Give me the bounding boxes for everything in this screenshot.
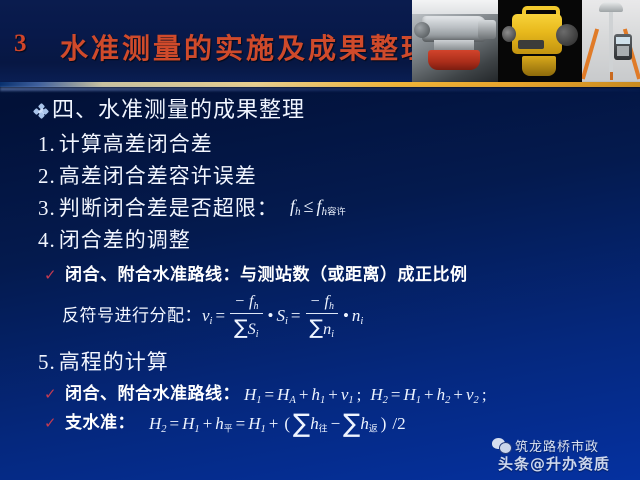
- list-item-3-index: 3.: [38, 196, 56, 220]
- fe-h1: H: [244, 385, 256, 404]
- fe-hh1: h: [311, 385, 320, 404]
- fc-den2-var: n: [323, 321, 331, 338]
- diamond-bullet-icon: [34, 104, 48, 118]
- fc-den1-var: S: [248, 321, 256, 338]
- formula-limit-rhs-sub-cjk: 容许: [327, 207, 346, 218]
- check-item-elevation-route-label: 闭合、附合水准路线：: [65, 384, 240, 404]
- fe-ha: H: [277, 385, 289, 404]
- fb-h2: H: [149, 414, 161, 433]
- fc-dot: •: [265, 306, 277, 325]
- fe-eq2: =: [388, 385, 404, 404]
- presentation-slide: 3 水准测量的实施及成果整理 四、水准测量的成果整理: [0, 0, 640, 480]
- fe-plus2: +: [325, 385, 341, 404]
- list-item-5-index: 5.: [38, 350, 56, 374]
- distribute-label: 反符号进行分配：: [62, 306, 202, 326]
- fb-hf-sub: 返: [369, 425, 378, 435]
- list-item-4-label: 闭合差的调整: [59, 228, 191, 252]
- fb-sum1: ∑: [293, 409, 310, 439]
- section-heading: 四、水准测量的成果整理: [34, 92, 305, 124]
- fb-h1: H: [182, 414, 194, 433]
- list-item-5-label: 高程的计算: [59, 350, 169, 374]
- fc-eq: =: [212, 306, 228, 325]
- check-mark-icon-2: ✓: [44, 385, 58, 403]
- fb-minus: −: [328, 414, 344, 433]
- fb-h1b-sub: 1: [261, 424, 266, 435]
- fe-semi2: ;: [479, 385, 490, 404]
- fc-num2-sub: h: [329, 301, 334, 312]
- fb-hp-sub: 平: [224, 425, 233, 435]
- fb-hw: h: [310, 414, 319, 433]
- check-item-closed-route-label: 闭合、附合水准路线：与测站数（或距离）成正比例: [65, 265, 468, 285]
- fe-plus3: +: [421, 385, 437, 404]
- formula-correction: vi=− fh∑Si•Si=− fh∑ni•ni: [202, 294, 363, 341]
- list-item-2-label: 高差闭合差容许误差: [59, 164, 257, 188]
- fb-eq: =: [167, 414, 183, 433]
- formula-branch-leveling: H2=H1+h平=H1+(∑h往−∑h返)/2: [149, 409, 409, 439]
- list-item-1: 1.计算高差闭合差: [38, 128, 213, 158]
- fb-hf: h: [360, 414, 369, 433]
- fc-num1-sub: h: [254, 301, 259, 312]
- check-item-branch-route: ✓支水准：H2=H1+h平=H1+(∑h往−∑h返)/2: [44, 408, 409, 439]
- fc-dot2: •: [340, 306, 352, 325]
- watermark-toutiao: 头条@升办资质: [498, 453, 610, 474]
- check-mark-icon-3: ✓: [44, 414, 58, 432]
- fe-h2: H: [364, 385, 382, 404]
- fc-mult1: S: [276, 306, 285, 325]
- check-item-closed-route: ✓闭合、附合水准路线：与测站数（或距离）成正比例: [44, 260, 468, 285]
- fb-hw-sub: 往: [319, 425, 328, 435]
- fb-plus: +: [200, 414, 216, 433]
- fc-v: v: [202, 306, 210, 325]
- fc-eq2: =: [288, 306, 304, 325]
- wechat-icon: [492, 438, 510, 453]
- check-mark-icon: ✓: [44, 266, 58, 284]
- fb-rparen: ): [378, 414, 390, 433]
- photo-yellow-digital-level: [498, 0, 582, 82]
- list-item-4-index: 4.: [38, 228, 56, 252]
- fb-hp: h: [215, 414, 224, 433]
- formula-closure-limit: fh≤fh容许: [290, 196, 346, 218]
- slide-content: 四、水准测量的成果整理 1.计算高差闭合差 2.高差闭合差容许误差 3.判断闭合…: [0, 88, 640, 480]
- check-item-elevation-route: ✓闭合、附合水准路线：H1=HA+h1+v1;H2=H1+h2+v2;: [44, 379, 490, 406]
- fb-eq2: =: [233, 414, 249, 433]
- slide-header-band: 3 水准测量的实施及成果整理: [0, 0, 640, 84]
- fb-h2-sub: 2: [161, 424, 166, 435]
- fc-den2-sub: i: [331, 329, 334, 340]
- fc-num2: − f: [310, 293, 329, 310]
- slide-number: 3: [14, 30, 27, 58]
- fe-hh2: h: [437, 385, 446, 404]
- fe-semi: ;: [354, 385, 365, 404]
- formula-limit-relation: ≤: [301, 196, 317, 216]
- fc-fraction-1: − fh∑Si: [230, 293, 262, 340]
- fc-mult2-sub: i: [360, 316, 363, 327]
- list-item-1-index: 1.: [38, 132, 56, 156]
- photo-gps-rover-on-tripod: [582, 0, 640, 82]
- fb-div: /2: [389, 414, 408, 433]
- list-item-5: 5.高程的计算: [38, 346, 169, 376]
- fe-h1b: H: [404, 385, 416, 404]
- page-title: 水准测量的实施及成果整理: [60, 27, 432, 67]
- fc-den1-sum: ∑: [234, 315, 248, 339]
- header-photo-strip: [412, 0, 640, 82]
- fc-den2-sum: ∑: [310, 315, 324, 339]
- fb-lparen: (: [281, 414, 293, 433]
- formula-elevation-1: H1=HA+h1+v1;H2=H1+h2+v2;: [244, 385, 490, 406]
- fb-plus2: +: [266, 414, 282, 433]
- list-item-2-index: 2.: [38, 164, 56, 188]
- fb-sum2: ∑: [343, 409, 360, 439]
- fe-ha-sub: A: [289, 395, 295, 406]
- fb-h1-sub: 1: [194, 424, 199, 435]
- fc-den1-sub: i: [256, 329, 259, 340]
- fe-h1-sub: 1: [256, 395, 261, 406]
- section-heading-label: 四、水准测量的成果整理: [52, 98, 305, 123]
- list-item-1-label: 计算高差闭合差: [59, 132, 213, 156]
- fe-v2: v: [466, 385, 474, 404]
- fe-plus1: +: [296, 385, 312, 404]
- fe-eq: =: [262, 385, 278, 404]
- list-item-3: 3.判断闭合差是否超限：: [38, 192, 279, 222]
- check-item-branch-route-label: 支水准：: [65, 413, 135, 433]
- photo-automatic-level-on-red-tribrach: [412, 0, 498, 82]
- list-item-3-label: 判断闭合差是否超限：: [59, 196, 279, 220]
- formula-limit-lhs-sub: h: [295, 206, 301, 218]
- list-item-2: 2.高差闭合差容许误差: [38, 160, 257, 190]
- fe-v1-sub: 1: [348, 395, 353, 406]
- fc-fraction-2: − fh∑ni: [306, 293, 338, 340]
- correction-formula-row: 反符号进行分配：vi=− fh∑Si•Si=− fh∑ni•ni: [62, 294, 363, 341]
- fb-h1b: H: [248, 414, 260, 433]
- fc-num1: − f: [234, 293, 253, 310]
- fe-plus4: +: [450, 385, 466, 404]
- list-item-4: 4.闭合差的调整: [38, 224, 191, 254]
